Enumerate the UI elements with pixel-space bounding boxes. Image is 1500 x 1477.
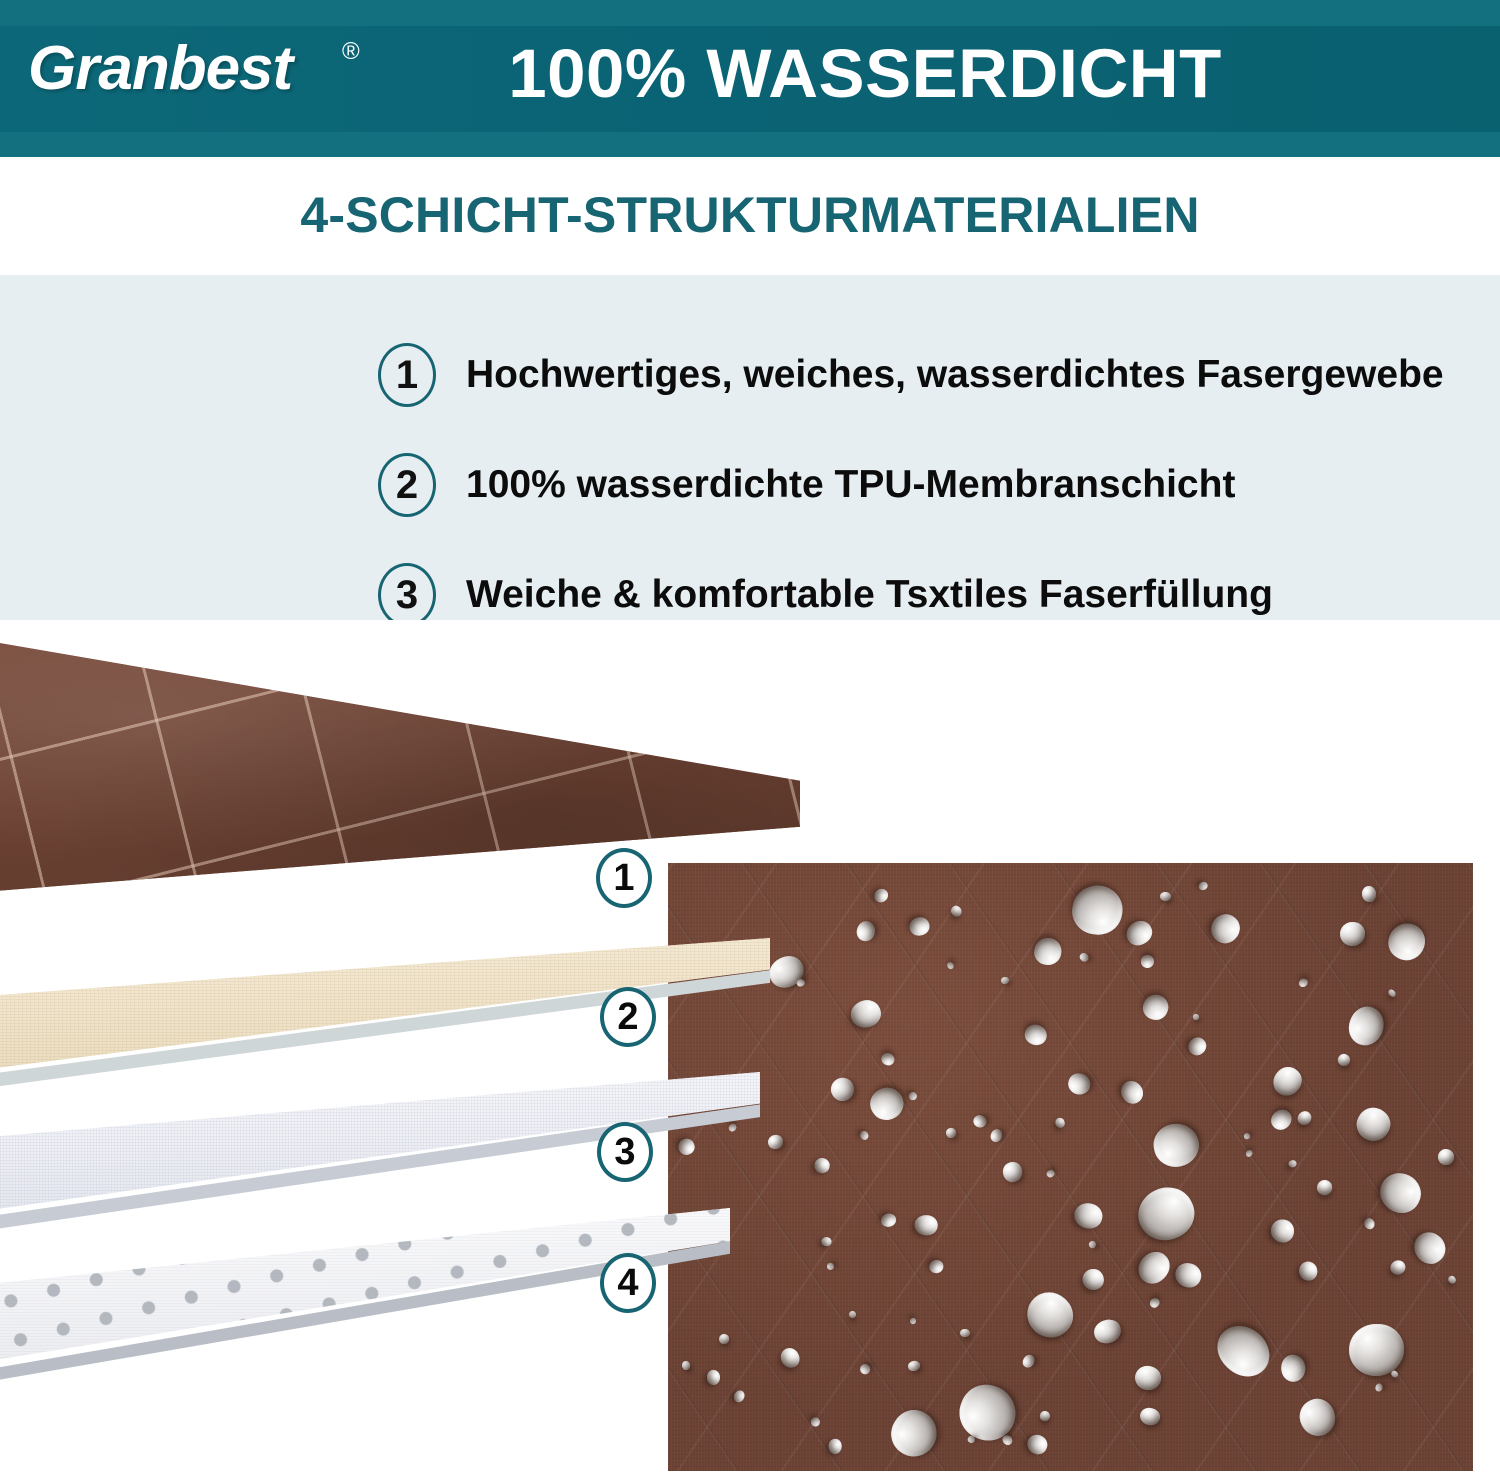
diagram-callout-badge-1: 1 bbox=[596, 848, 652, 908]
header-bar: Granbest ® 100% WASSERDICHT bbox=[0, 0, 1500, 157]
feature-number-badge-2: 2 bbox=[378, 453, 436, 517]
material-layer-stack: 1 2 3 4 bbox=[0, 620, 900, 1477]
feature-item-2: 2 100% wasserdichte TPU-Membranschicht bbox=[378, 430, 1478, 540]
water-droplet bbox=[1244, 1133, 1250, 1139]
product-diagram-area: 1 2 3 4 bbox=[0, 620, 1500, 1477]
feature-number-badge-3: 3 bbox=[378, 563, 436, 627]
water-droplet bbox=[1339, 921, 1364, 945]
diagram-callout-badge-3: 3 bbox=[597, 1122, 653, 1182]
feature-number-badge-1: 1 bbox=[378, 343, 436, 407]
feature-item-1: 1 Hochwertiges, weiches, wasserdichtes F… bbox=[378, 320, 1478, 430]
layer-1-brown-fabric bbox=[0, 638, 800, 893]
diagram-callout-badge-4: 4 bbox=[600, 1253, 656, 1313]
diagram-callout-badge-2: 2 bbox=[600, 987, 656, 1047]
feature-label-2: 100% wasserdichte TPU-Membranschicht bbox=[466, 463, 1235, 507]
water-droplet bbox=[1349, 1324, 1403, 1376]
layer-1-sheen bbox=[0, 638, 800, 893]
water-droplet bbox=[915, 1215, 938, 1235]
feature-label-1: Hochwertiges, weiches, wasserdichtes Fas… bbox=[466, 353, 1444, 397]
header-title: 100% WASSERDICHT bbox=[0, 34, 1500, 113]
subtitle-text: 4-SCHICHT-STRUKTURMATERIALIEN bbox=[0, 186, 1500, 244]
feature-label-3: Weiche & komfortable Tsxtiles Faserfüllu… bbox=[466, 573, 1273, 617]
subtitle-band: 4-SCHICHT-STRUKTURMATERIALIEN bbox=[0, 157, 1500, 275]
